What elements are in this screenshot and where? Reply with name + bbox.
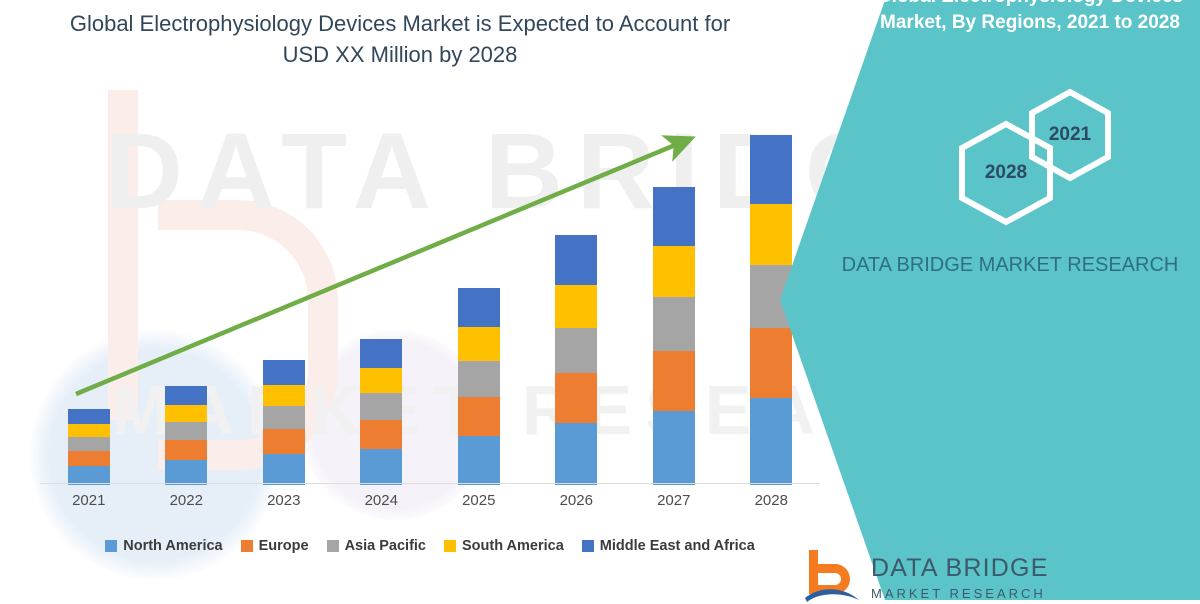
bar-group-2027[interactable] bbox=[653, 187, 695, 485]
bar-segment-middle-east-and-africa[interactable] bbox=[360, 339, 402, 368]
bar-segment-north-america[interactable] bbox=[653, 411, 695, 485]
bar-segment-europe[interactable] bbox=[458, 397, 500, 436]
bar-segment-europe[interactable] bbox=[360, 420, 402, 449]
legend-item-north-america[interactable]: North America bbox=[105, 538, 222, 554]
bar-group-2021[interactable] bbox=[68, 409, 110, 485]
legend-item-europe[interactable]: Europe bbox=[241, 538, 309, 554]
bar-segment-middle-east-and-africa[interactable] bbox=[68, 409, 110, 424]
bar-group-2025[interactable] bbox=[458, 288, 500, 485]
bar-segment-middle-east-and-africa[interactable] bbox=[555, 235, 597, 285]
legend-swatch-icon bbox=[327, 540, 339, 552]
x-tick-2021: 2021 bbox=[40, 492, 138, 509]
bar-segment-north-america[interactable] bbox=[750, 398, 792, 485]
bar-segment-middle-east-and-africa[interactable] bbox=[263, 360, 305, 385]
bar-segment-asia-pacific[interactable] bbox=[458, 361, 500, 397]
bar-segment-middle-east-and-africa[interactable] bbox=[653, 187, 695, 246]
x-tick-2023: 2023 bbox=[235, 492, 333, 509]
bar-segment-middle-east-and-africa[interactable] bbox=[458, 288, 500, 327]
legend-item-asia-pacific[interactable]: Asia Pacific bbox=[327, 538, 426, 554]
bar-segment-north-america[interactable] bbox=[360, 449, 402, 485]
x-tick-2025: 2025 bbox=[430, 492, 528, 509]
bar-segment-middle-east-and-africa[interactable] bbox=[165, 386, 207, 405]
bar-segment-south-america[interactable] bbox=[263, 385, 305, 406]
brand-name: DATA BRIDGE MARKET RESEARCH bbox=[840, 250, 1180, 281]
data-bridge-logo-icon bbox=[805, 548, 861, 604]
legend-label: Middle East and Africa bbox=[600, 538, 755, 554]
bar-segment-south-america[interactable] bbox=[653, 246, 695, 297]
bar-group-2024[interactable] bbox=[360, 339, 402, 485]
x-tick-2026: 2026 bbox=[528, 492, 626, 509]
bar-group-2026[interactable] bbox=[555, 235, 597, 485]
bar-segment-middle-east-and-africa[interactable] bbox=[750, 135, 792, 204]
right-info-panel bbox=[780, 0, 1200, 600]
hexagon-group: 2028 2021 bbox=[952, 96, 1152, 226]
x-axis-labels: 20212022202320242025202620272028 bbox=[40, 492, 820, 522]
bar-segment-europe[interactable] bbox=[263, 429, 305, 454]
bar-segment-north-america[interactable] bbox=[165, 460, 207, 485]
legend-swatch-icon bbox=[582, 540, 594, 552]
logo-subtitle: MARKET RESEARCH bbox=[871, 586, 1046, 601]
chart-title: Global Electrophysiology Devices Market … bbox=[60, 8, 740, 70]
bar-segment-asia-pacific[interactable] bbox=[263, 406, 305, 429]
bar-segment-north-america[interactable] bbox=[458, 436, 500, 485]
company-logo: DATA BRIDGE MARKET RESEARCH bbox=[805, 542, 1085, 604]
bar-segment-asia-pacific[interactable] bbox=[68, 437, 110, 451]
bar-segment-south-america[interactable] bbox=[458, 327, 500, 361]
hexagon-year-2021: 2021 bbox=[1028, 88, 1112, 182]
x-axis-line bbox=[40, 483, 820, 484]
bar-segment-south-america[interactable] bbox=[68, 424, 110, 437]
legend-label: Asia Pacific bbox=[345, 538, 426, 554]
bar-group-2023[interactable] bbox=[263, 360, 305, 485]
legend-item-middle-east-and-africa[interactable]: Middle East and Africa bbox=[582, 538, 755, 554]
bar-segment-europe[interactable] bbox=[750, 328, 792, 398]
x-tick-2027: 2027 bbox=[625, 492, 723, 509]
bar-segment-europe[interactable] bbox=[165, 440, 207, 460]
hexagon-2021-label: 2021 bbox=[1049, 124, 1091, 146]
bar-segment-asia-pacific[interactable] bbox=[165, 422, 207, 440]
bar-segment-asia-pacific[interactable] bbox=[360, 393, 402, 420]
bar-segment-asia-pacific[interactable] bbox=[555, 328, 597, 373]
hexagon-2028-label: 2028 bbox=[985, 162, 1027, 184]
bar-segment-south-america[interactable] bbox=[750, 204, 792, 265]
x-tick-2028: 2028 bbox=[723, 492, 821, 509]
bar-segment-asia-pacific[interactable] bbox=[653, 297, 695, 351]
bar-segment-europe[interactable] bbox=[653, 351, 695, 411]
legend-swatch-icon bbox=[444, 540, 456, 552]
legend-item-south-america[interactable]: South America bbox=[444, 538, 564, 554]
bar-segment-north-america[interactable] bbox=[263, 454, 305, 485]
chart-plot-area bbox=[40, 110, 820, 485]
chart-legend: North AmericaEuropeAsia PacificSouth Ame… bbox=[40, 538, 820, 554]
bar-segment-south-america[interactable] bbox=[360, 368, 402, 393]
bar-segment-north-america[interactable] bbox=[555, 423, 597, 485]
bar-group-2022[interactable] bbox=[165, 386, 207, 485]
legend-label: South America bbox=[462, 538, 564, 554]
legend-swatch-icon bbox=[241, 540, 253, 552]
legend-swatch-icon bbox=[105, 540, 117, 552]
panel-heading: Global Electrophysiology Devices Market,… bbox=[860, 0, 1200, 36]
bar-segment-south-america[interactable] bbox=[165, 405, 207, 422]
x-tick-2024: 2024 bbox=[333, 492, 431, 509]
logo-wordmark: DATA BRIDGE bbox=[871, 554, 1049, 583]
bar-segment-europe[interactable] bbox=[555, 373, 597, 423]
legend-label: North America bbox=[123, 538, 222, 554]
x-tick-2022: 2022 bbox=[138, 492, 236, 509]
bar-segment-europe[interactable] bbox=[68, 451, 110, 466]
legend-label: Europe bbox=[259, 538, 309, 554]
bar-segment-south-america[interactable] bbox=[555, 285, 597, 328]
